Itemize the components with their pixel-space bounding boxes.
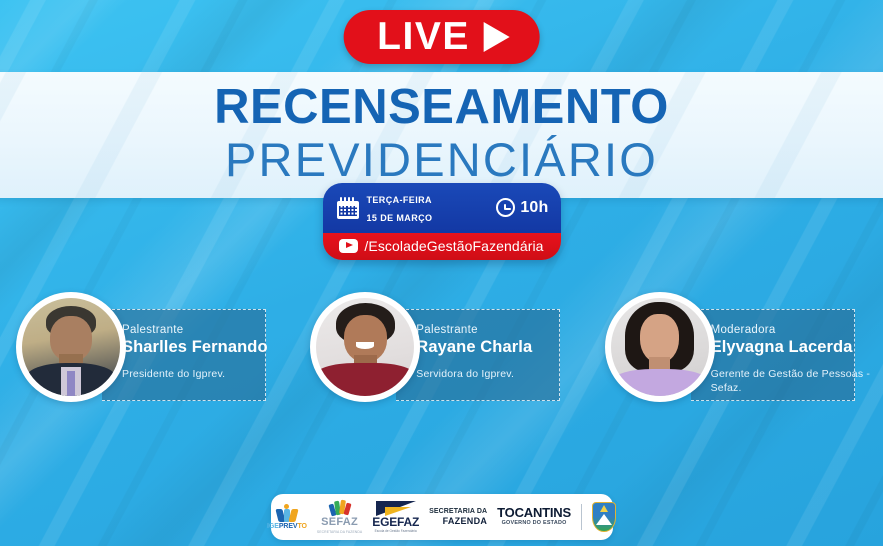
speaker-role: Palestrante — [416, 324, 584, 337]
tocantins-coat-of-arms-icon — [592, 502, 616, 532]
secretaria-line1: SECRETARIA DA — [429, 508, 487, 516]
event-day-month: 15 DE MARÇO — [367, 213, 433, 223]
live-label: LIVE — [377, 17, 470, 56]
speaker-portrait-image — [316, 298, 414, 396]
speaker-card: Palestrante Rayane Charla Servidora do I… — [294, 292, 588, 416]
youtube-channel-handle: /EscoladeGestãoFazendária — [364, 238, 543, 254]
avatar — [310, 292, 420, 402]
event-time-group: 10h — [496, 198, 548, 217]
play-triangle-icon — [484, 22, 510, 52]
speaker-title: Gerente de Gestão de Pessoas - Sefaz. — [711, 367, 879, 395]
page-subtitle: PREVIDENCIÁRIO — [0, 135, 883, 186]
speaker-title: Servidora do Igprev. — [416, 367, 584, 381]
speaker-name: Sharlles Fernando — [122, 338, 290, 357]
event-date: TERÇA-FEIRA 15 DE MARÇO — [367, 190, 433, 226]
speaker-card-list: Palestrante Sharlles Fernando Presidente… — [0, 292, 883, 416]
tocantins-wordmark: TOCANTINS — [497, 506, 571, 519]
speaker-info-text: Palestrante Rayane Charla Servidora do I… — [416, 324, 584, 381]
logo-sefaz: SEFAZ SECRETARIA DA FAZENDA — [317, 500, 362, 534]
sefaz-subtext: SECRETARIA DA FAZENDA — [317, 530, 362, 534]
event-datetime-row: TERÇA-FEIRA 15 DE MARÇO 10h — [323, 183, 561, 233]
speaker-role: Palestrante — [122, 324, 290, 337]
calendar-icon — [337, 197, 359, 219]
event-info-pill: TERÇA-FEIRA 15 DE MARÇO 10h /EscoladeGes… — [323, 183, 561, 260]
secretaria-line2: FAZENDA — [443, 516, 488, 526]
logo-secretaria-fazenda: SECRETARIA DA FAZENDA — [429, 508, 487, 526]
event-weekday: TERÇA-FEIRA — [367, 195, 432, 205]
speaker-card: Palestrante Sharlles Fernando Presidente… — [0, 292, 294, 416]
igeprev-text-c: TO — [297, 523, 306, 530]
igeprev-text-b: PREV — [279, 523, 298, 530]
speaker-card: Moderadora Elyvagna Lacerda Gerente de G… — [589, 292, 883, 416]
igeprev-wordmark: IGEPREVTO — [267, 523, 307, 530]
egefaz-subtext: Escola de Gestão Fazendária — [375, 529, 417, 533]
page-title: RECENSEAMENTO — [0, 82, 883, 133]
speaker-role: Moderadora — [711, 324, 879, 337]
tocantins-subtext: GOVERNO DO ESTADO — [502, 520, 567, 527]
speaker-name: Elyvagna Lacerda — [711, 338, 879, 357]
speaker-info-text: Palestrante Sharlles Fernando Presidente… — [122, 324, 290, 381]
speaker-title: Presidente do Igprev. — [122, 367, 290, 381]
speaker-portrait-image — [611, 298, 709, 396]
logo-tocantins: TOCANTINS GOVERNO DO ESTADO — [497, 506, 571, 527]
live-event-banner: LIVE RECENSEAMENTO PREVIDENCIÁRIO TERÇA-… — [0, 0, 883, 546]
speaker-portrait-image — [22, 298, 120, 396]
youtube-play-icon — [339, 239, 358, 253]
egefaz-roof-icon — [376, 501, 416, 516]
youtube-channel-row[interactable]: /EscoladeGestãoFazendária — [323, 233, 561, 260]
sefaz-wordmark: SEFAZ — [321, 517, 358, 528]
event-time: 10h — [520, 199, 548, 217]
egefaz-wordmark: EGEFAZ — [372, 516, 419, 528]
avatar — [605, 292, 715, 402]
igeprev-text-a: IGE — [267, 523, 279, 530]
logo-igeprev: IGEPREVTO — [267, 504, 307, 530]
logo-egefaz: EGEFAZ Escola de Gestão Fazendária — [372, 501, 419, 533]
logo-divider — [581, 504, 582, 530]
title-block: RECENSEAMENTO PREVIDENCIÁRIO — [0, 82, 883, 186]
avatar — [16, 292, 126, 402]
speaker-name: Rayane Charla — [416, 338, 584, 357]
clock-icon — [496, 198, 515, 217]
live-badge: LIVE — [343, 10, 540, 64]
sefaz-figures-icon — [329, 500, 351, 516]
sponsor-logo-bar: IGEPREVTO SEFAZ SECRETARIA DA FAZENDA EG… — [271, 494, 613, 540]
speaker-info-text: Moderadora Elyvagna Lacerda Gerente de G… — [711, 324, 879, 395]
igeprev-figure-icon — [277, 504, 297, 522]
